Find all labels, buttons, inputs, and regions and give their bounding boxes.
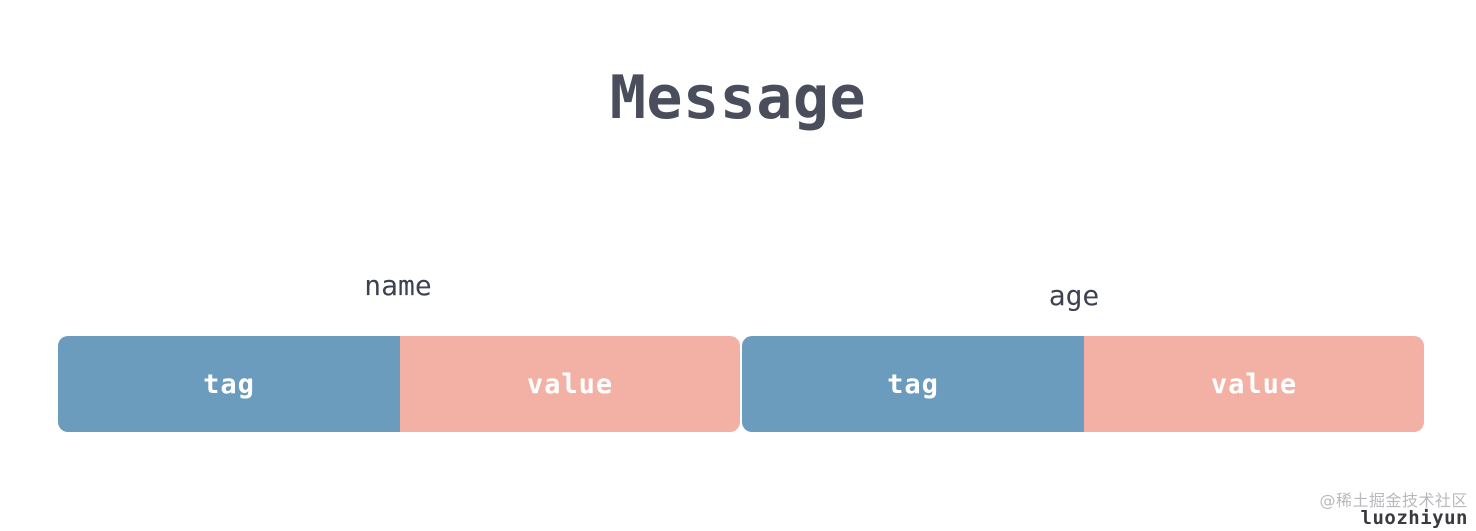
age-tag-segment: tag [742,336,1084,432]
field-group-name: tag value [58,336,740,432]
name-tag-segment: tag [58,336,400,432]
field-group-age: tag value [742,336,1424,432]
watermark: @稀土掘金技术社区 luozhiyun [1319,493,1468,529]
field-label-name: name [364,272,431,300]
name-value-segment: value [400,336,740,432]
field-label-age: age [1049,282,1100,310]
age-value-segment: value [1084,336,1424,432]
watermark-username: luozhiyun [1319,509,1468,529]
message-bar: tag value tag value [58,336,1424,432]
diagram-canvas: { "title": "Message", "colors": { "backg… [0,0,1476,531]
field-label-row: name age [0,0,1476,336]
